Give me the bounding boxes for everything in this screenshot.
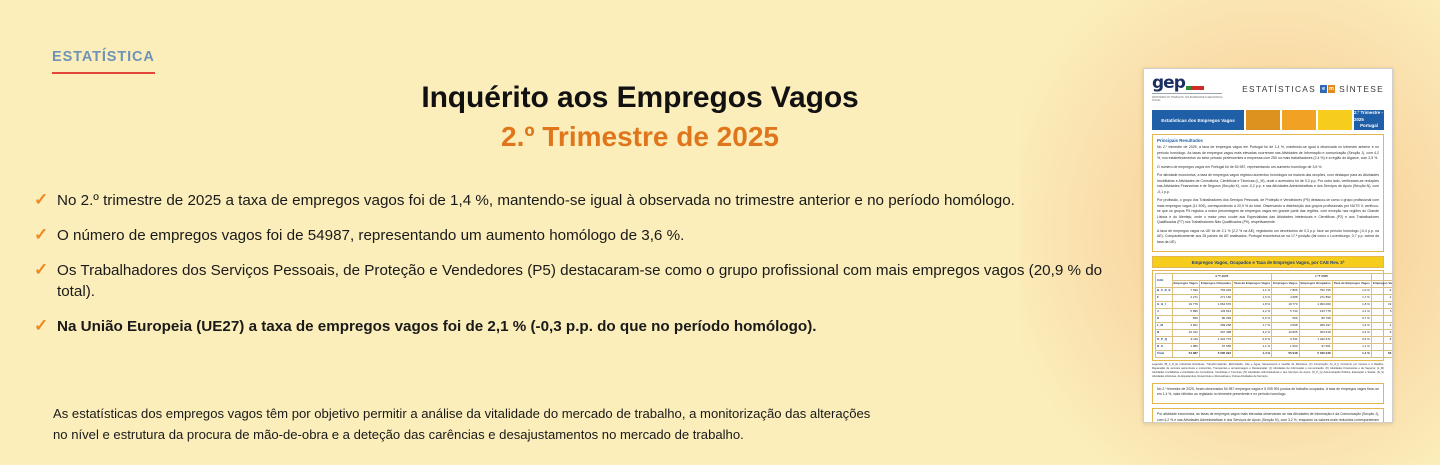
table-cell: 5 896 — [1172, 308, 1199, 315]
table-cell: 133 778 — [1299, 308, 1332, 315]
table-cell: 5 040 046 — [1299, 350, 1332, 357]
table-cell: 0,7 % — [1332, 315, 1371, 322]
table-row: N10 312307 4983,2 %10 805303 5193,4 %9 9… — [1156, 329, 1394, 336]
table-cell: 53 088 — [1371, 350, 1393, 357]
table-cell: 1 064 060 — [1299, 302, 1332, 309]
table-cell: 3,4 % — [1332, 329, 1371, 336]
document-title-bar: Estatísticas dos Empregos Vagos 2.º Trim… — [1152, 110, 1384, 130]
table-cell: 3,2 % — [1233, 329, 1272, 336]
footnote-block: As estatísticas dos empregos vagos têm p… — [53, 404, 1013, 445]
document-footer-box-1: No 2.º trimestre de 2025, foram observad… — [1152, 383, 1384, 405]
color-swatch-1 — [1246, 110, 1280, 130]
table-cell: 97 660 — [1199, 343, 1232, 350]
check-icon: ✓ — [34, 224, 54, 247]
estatisticas-em-sintese-header: ESTATÍSTICAS e m SÍNTESE — [1242, 84, 1384, 94]
table-row: B_C_D_E7 630763 9291,1 %7 806752 7951,0 … — [1156, 288, 1394, 295]
table-cell: 1,0 % — [1332, 288, 1371, 295]
list-item-line: Os Trabalhadores dos Serviços Pessoais, … — [57, 262, 980, 279]
table-cell: 1,4 % — [1332, 350, 1371, 357]
list-item-line: homólogo. — [944, 192, 1015, 209]
table-cell: 599 — [1272, 315, 1299, 322]
table-row-total: Total54 9875 005 9911,4 %55 9485 040 046… — [1156, 350, 1394, 357]
table-cell: 271 892 — [1299, 295, 1332, 302]
table-cell: 303 519 — [1299, 329, 1332, 336]
table-cell-cae: Total — [1156, 350, 1173, 357]
table-cell: 133 814 — [1199, 308, 1232, 315]
table-cell: 4,1 % — [1332, 308, 1371, 315]
table-cell: 97 661 — [1299, 343, 1332, 350]
table-cell: 1,6 % — [1332, 322, 1371, 329]
list-item-text: Os Trabalhadores dos Serviços Pessoais, … — [57, 260, 1104, 303]
table-cell: 1,1 % — [1332, 343, 1371, 350]
eyebrow-underline — [52, 72, 155, 75]
table-cell: 54 987 — [1172, 350, 1199, 357]
footnote-line: As estatísticas dos empregos vagos têm p… — [53, 404, 1013, 425]
main-results-paragraph: Por profissão, o grupo dos Trabalhadores… — [1157, 198, 1379, 226]
key-findings-list: ✓ No 2.º trimestre de 2025 a taxa de emp… — [34, 190, 1104, 351]
table-col-vagos: Empregos Vagos — [1272, 281, 1299, 288]
table-cell-cae: R_S — [1156, 343, 1173, 350]
table-cell-cae: N — [1156, 329, 1173, 336]
logo-ministry-line: MINISTÉRIO DO TRABALHO, SOLIDARIEDADE E … — [1152, 96, 1224, 103]
table-cell: 19 030 — [1371, 302, 1393, 309]
table-cell: 10 805 — [1272, 329, 1299, 336]
table-cell: 5 005 991 — [1199, 350, 1232, 357]
table-cell: 269 197 — [1299, 322, 1332, 329]
badge-letter-m: m — [1328, 85, 1335, 93]
table-group-header-row: CAE 2.ºT 2025 1.ºT 2025 2.ºT 2024 — [1156, 274, 1394, 281]
table-cell: 1 090 — [1272, 343, 1299, 350]
table-cell: 1 080 — [1172, 343, 1199, 350]
table-col-taxa: Taxa de Empregos Vagos — [1233, 281, 1272, 288]
table-cell: 4 980 — [1371, 295, 1393, 302]
table-cell-cae: L_M — [1156, 322, 1173, 329]
table-cell: 5 740 — [1272, 308, 1299, 315]
table-cell: 1,1 % — [1233, 288, 1272, 295]
table-row: G_H_I19 7761 064 6701,8 %19 7701 064 060… — [1156, 302, 1394, 309]
table-group-q1-2025: 1.ºT 2025 — [1272, 274, 1372, 281]
table-row: L_M4 601269 2681,7 %4 598269 1971,6 %4 0… — [1156, 322, 1394, 329]
list-item-line: No 2.º trimestre de 2025 a taxa de empre… — [57, 192, 940, 209]
table-col-vagos: Empregos Vagos — [1172, 281, 1199, 288]
table-cell: 9 954 — [1371, 329, 1393, 336]
table-title: Empregos Vagos, Ocupados e Taxa de Empre… — [1152, 256, 1384, 268]
table-row: K56680 2690,6 %59980 7980,7 %60979 6610,… — [1156, 315, 1394, 322]
table-legend: Legenda: (B_C_D_E) Indústrias Extrativas… — [1152, 363, 1384, 379]
table-cell: 307 498 — [1199, 329, 1232, 336]
table-cell: 19 770 — [1272, 302, 1299, 309]
table-cell-cae: B_C_D_E — [1156, 288, 1173, 295]
document-thumbnail[interactable]: gep MINISTÉRIO DO TRABALHO, SOLIDARIEDAD… — [1143, 68, 1393, 423]
table-cell: 1,6 % — [1233, 295, 1272, 302]
table-cell: 1,1 % — [1233, 343, 1272, 350]
check-icon: ✓ — [34, 315, 54, 338]
sintese-label: SÍNTESE — [1339, 84, 1384, 94]
table-cell: 0,6 % — [1233, 336, 1272, 343]
page-subtitle: 2.º Trimestre de 2025 — [200, 120, 1080, 153]
title-block: Inquérito aos Empregos Vagos 2.º Trimest… — [200, 80, 1080, 153]
table-cell-cae: O_P_Q — [1156, 336, 1173, 343]
table-cell: 1 064 670 — [1199, 302, 1232, 309]
estatisticas-label: ESTATÍSTICAS — [1242, 84, 1316, 94]
table-cell: 4 601 — [1172, 322, 1199, 329]
table-container: CAE 2.ºT 2025 1.ºT 2025 2.ºT 2024 Empreg… — [1152, 270, 1384, 360]
table-cell: 1 344 770 — [1199, 336, 1232, 343]
table-cell: 1,7 % — [1233, 322, 1272, 329]
document-bar-period: 2.º Trimestre - 2025 Portugal — [1354, 110, 1384, 130]
table-cell: 763 929 — [1199, 288, 1232, 295]
badge-letter-e: e — [1320, 85, 1327, 93]
table-cell: 1 342 671 — [1299, 336, 1332, 343]
main-results-paragraph: A taxa de empregos vagos na UE foi de 2,… — [1157, 229, 1379, 246]
table-head: CAE 2.ºT 2025 1.ºT 2025 2.ºT 2024 Empreg… — [1156, 274, 1394, 288]
list-item-line: O número de empregos vagos foi de 54987,… — [57, 227, 684, 244]
table-cell: 1,8 % — [1233, 302, 1272, 309]
em-badge-icon: e m — [1320, 85, 1335, 93]
table-col-ocupados: Empregos Ocupados — [1299, 281, 1332, 288]
table-cell: 4 014 — [1371, 322, 1393, 329]
table-cell: 859 — [1371, 343, 1393, 350]
document-bar-title: Estatísticas dos Empregos Vagos — [1152, 110, 1244, 130]
table-col-cae: CAE — [1156, 274, 1173, 288]
table-row: O_P_Q9 1191 344 7700,6 %9 5111 342 6710,… — [1156, 336, 1394, 343]
table-cell: 752 795 — [1299, 288, 1332, 295]
table-cell: 1,4 % — [1233, 350, 1272, 357]
table-group-q2-2025: 2.ºT 2025 — [1172, 274, 1272, 281]
table-cell: 7 806 — [1272, 288, 1299, 295]
table-cell: 1,7 % — [1332, 295, 1371, 302]
table-cell: 4 271 — [1172, 295, 1199, 302]
list-item: ✓ No 2.º trimestre de 2025 a taxa de emp… — [34, 190, 1104, 212]
table-cell-cae: G_H_I — [1156, 302, 1173, 309]
table-row: J5 896133 8144,2 %5 740133 7784,1 %5 811… — [1156, 308, 1394, 315]
table-subheader-row: Empregos Vagos Empregos Ocupados Taxa de… — [1156, 281, 1394, 288]
footer-paragraph: Por atividade económica, as taxas de emp… — [1157, 412, 1379, 423]
table-cell: 0,6 % — [1233, 315, 1272, 322]
table-cell: 609 — [1371, 315, 1393, 322]
check-icon: ✓ — [34, 259, 54, 282]
table-cell: 80 798 — [1299, 315, 1332, 322]
table-cell: 4 598 — [1272, 322, 1299, 329]
table-cell: 19 776 — [1172, 302, 1199, 309]
table-cell: 55 948 — [1272, 350, 1299, 357]
list-item: ✓ O número de empregos vagos foi de 5498… — [34, 225, 1104, 247]
table-cell: 1,8 % — [1332, 302, 1371, 309]
table-cell: 269 268 — [1199, 322, 1232, 329]
list-item-line: Na União Europeia (UE27) a taxa de empre… — [57, 318, 817, 335]
main-results-box: Principais Resultados No 2.º trimestre d… — [1152, 134, 1384, 252]
page-title: Inquérito aos Empregos Vagos — [200, 80, 1080, 115]
eyebrow-block: ESTATÍSTICA — [52, 50, 155, 74]
table-row: F4 271271 1601,6 %4 688271 8921,7 %4 980… — [1156, 295, 1394, 302]
list-item: ✓ Na União Europeia (UE27) a taxa de emp… — [34, 316, 1104, 338]
table-cell: 5 811 — [1371, 308, 1393, 315]
table-col-vagos: Empregos Vagos — [1371, 281, 1393, 288]
table-cell: 8 680 — [1371, 336, 1393, 343]
table-cell: 7 630 — [1172, 288, 1199, 295]
table-group-q2-2024: 2.ºT 2024 — [1371, 274, 1393, 281]
color-swatch-2 — [1282, 110, 1316, 130]
period-country: Portugal — [1360, 123, 1378, 130]
footnote-line: no nível e estrutura da procura de mão-d… — [53, 425, 1013, 446]
list-item-text: No 2.º trimestre de 2025 a taxa de empre… — [57, 190, 1104, 212]
table-cell: 0,6 % — [1332, 336, 1371, 343]
table-cell: 566 — [1172, 315, 1199, 322]
eyebrow-label: ESTATÍSTICA — [52, 50, 155, 66]
table-cell: 9 119 — [1172, 336, 1199, 343]
table-cell: 4 688 — [1272, 295, 1299, 302]
vacancies-table: CAE 2.ºT 2025 1.ºT 2025 2.ºT 2024 Empreg… — [1155, 273, 1393, 357]
period-quarter: 2.º Trimestre - 2025 — [1354, 110, 1384, 123]
footer-paragraph: No 2.º trimestre de 2025, foram observad… — [1157, 387, 1379, 398]
color-swatch-3 — [1318, 110, 1352, 130]
gep-logo: gep MINISTÉRIO DO TRABALHO, SOLIDARIEDAD… — [1152, 76, 1224, 103]
document-header: gep MINISTÉRIO DO TRABALHO, SOLIDARIEDAD… — [1152, 76, 1384, 106]
table-col-ocupados: Empregos Ocupados — [1199, 281, 1232, 288]
table-cell: 80 269 — [1199, 315, 1232, 322]
list-item: ✓ Os Trabalhadores dos Serviços Pessoais… — [34, 260, 1104, 303]
main-results-paragraph: No 2.º trimestre de 2025, a taxa de empr… — [1157, 145, 1379, 162]
infographic-page: ESTATÍSTICA Inquérito aos Empregos Vagos… — [0, 0, 1440, 465]
table-cell: 10 312 — [1172, 329, 1199, 336]
check-icon: ✓ — [34, 189, 54, 212]
table-body: B_C_D_E7 630763 9291,1 %7 806752 7951,0 … — [1156, 288, 1394, 357]
table-cell: 271 160 — [1199, 295, 1232, 302]
flag-icon — [1186, 86, 1204, 90]
table-cell: 9 511 — [1272, 336, 1299, 343]
list-item-text: O número de empregos vagos foi de 54987,… — [57, 225, 1104, 247]
logo-rule — [1152, 93, 1222, 94]
list-item-text: Na União Europeia (UE27) a taxa de empre… — [57, 316, 1104, 338]
document-footer-box-2: Por atividade económica, as taxas de emp… — [1152, 408, 1384, 423]
main-results-paragraph: O número de empregos vagos em Portugal f… — [1157, 165, 1379, 171]
table-cell: 4,2 % — [1233, 308, 1272, 315]
main-results-heading: Principais Resultados — [1157, 138, 1379, 143]
table-col-taxa: Taxa de Empregos Vagos — [1332, 281, 1371, 288]
table-row: R_S1 08097 6601,1 %1 09097 6611,1 %85997… — [1156, 343, 1394, 350]
table-cell-cae: F — [1156, 295, 1173, 302]
table-cell-cae: K — [1156, 315, 1173, 322]
table-cell-cae: J — [1156, 308, 1173, 315]
table-cell: 6 940 — [1371, 288, 1393, 295]
main-results-paragraph: Por atividade económica, a taxa de empre… — [1157, 173, 1379, 195]
